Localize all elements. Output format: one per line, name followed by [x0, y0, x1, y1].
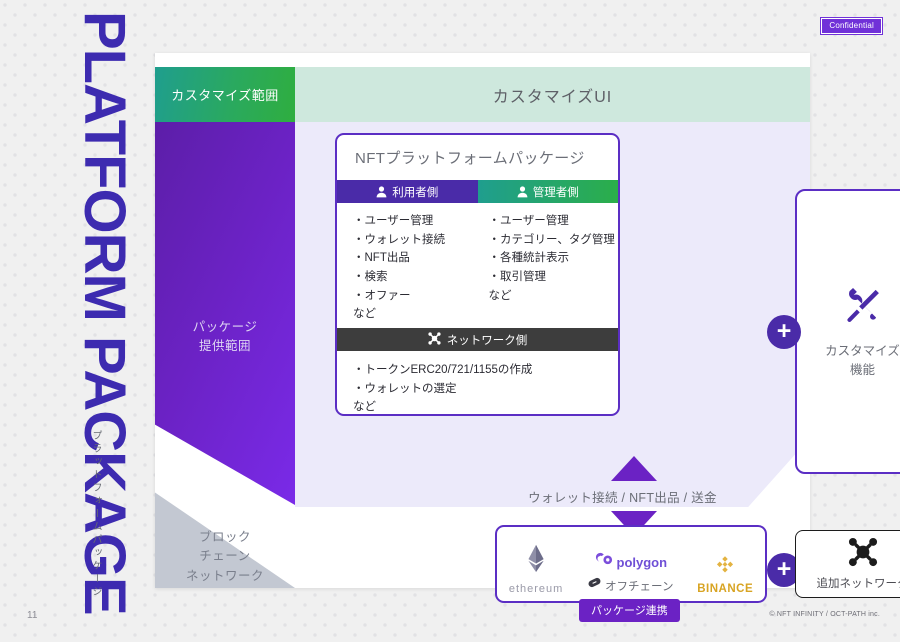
plus-badge-customize: +: [767, 315, 801, 349]
header-tab-customize-ui: カスタマイズUI: [295, 67, 810, 122]
user-icon: [376, 186, 387, 198]
chain-polygon-label: polygon: [617, 555, 668, 570]
network-nodes-icon: [848, 537, 878, 572]
polygon-logo-row: polygon: [587, 550, 673, 572]
customize-caption-line1: カスタマイズ: [825, 342, 900, 361]
add-network-box: 追加ネットワーク: [795, 530, 900, 598]
content-card: カスタマイズ範囲 カスタマイズUI パッケージ 提供範囲 ブロック チェーン ネ…: [155, 53, 810, 588]
network-side-header: ネットワーク側: [337, 328, 618, 351]
chain-polygon: polygon オフチェーン: [587, 550, 673, 595]
polygon-icon: [594, 550, 614, 572]
arrow-up-icon: [611, 456, 657, 481]
vertical-title-group: PLATFORM PACKAGE: [46, 42, 166, 602]
band-blockchain-line2: チェーン: [155, 547, 295, 566]
tab-admin-side-label: 管理者側: [533, 184, 579, 200]
offchain-link-icon: [587, 575, 602, 595]
chain-ethereum-label: ethereum: [509, 583, 563, 595]
band-package-scope-line2: 提供範囲: [193, 337, 258, 356]
slide-root: Confidential PLATFORM PACKAGE プラットフォームパッ…: [0, 0, 900, 642]
network-side-label: ネットワーク側: [447, 332, 528, 348]
band-blockchain-network-label: ブロック チェーン ネットワーク: [155, 528, 295, 586]
package-link-badge: パッケージ連携: [579, 599, 680, 622]
user-feature-list: ・ユーザー管理 ・ウォレット接続 ・NFT出品 ・検索 ・オファー など: [337, 212, 483, 328]
page-number: 11: [27, 610, 37, 621]
admin-feature-list: ・ユーザー管理 ・カテゴリー、タグ管理 ・各種統計表示 ・取引管理 など: [483, 212, 619, 328]
nft-platform-package-box: NFTプラットフォームパッケージ 利用者側 管理者側 ・ユーザー管理 ・ウォレッ…: [335, 133, 620, 416]
offchain-row: オフチェーン: [587, 575, 673, 595]
band-blockchain-line1: ブロック: [155, 528, 295, 547]
chain-binance: BINANCE: [697, 554, 753, 595]
chain-offchain-label: オフチェーン: [605, 578, 673, 594]
ethereum-icon: [525, 563, 547, 580]
tools-icon: [840, 283, 886, 334]
page-subtitle: プラットフォームパッケージ: [88, 430, 103, 599]
customize-function-box: カスタマイズ 機能: [795, 189, 900, 474]
network-nodes-icon: [428, 332, 441, 348]
customize-caption-line2: 機能: [825, 361, 900, 380]
package-role-tabs: 利用者側 管理者側: [337, 180, 618, 203]
tab-user-side-label: 利用者側: [392, 184, 438, 200]
add-network-caption: 追加ネットワーク: [817, 575, 900, 591]
tab-admin-side[interactable]: 管理者側: [478, 180, 619, 203]
blockchain-network-box: ethereum polygon: [495, 525, 767, 603]
package-box-title: NFTプラットフォームパッケージ: [337, 135, 618, 180]
chain-ethereum: ethereum: [509, 544, 563, 595]
confidential-badge: Confidential: [821, 18, 882, 34]
package-feature-columns: ・ユーザー管理 ・ウォレット接続 ・NFT出品 ・検索 ・オファー など ・ユー…: [337, 203, 618, 328]
connector-label: ウォレット接続 / NFT出品 / 送金: [455, 487, 790, 506]
band-package-scope-label: パッケージ 提供範囲: [193, 318, 258, 357]
band-blockchain-line3: ネットワーク: [155, 567, 295, 586]
band-package-scope: パッケージ 提供範囲: [155, 122, 295, 505]
header-tab-customize-scope: カスタマイズ範囲: [155, 67, 295, 122]
page-title: PLATFORM PACKAGE: [75, 11, 133, 511]
band-package-scope-line1: パッケージ: [193, 318, 258, 337]
customize-function-caption: カスタマイズ 機能: [825, 342, 900, 380]
admin-user-icon: [517, 186, 528, 198]
tab-user-side[interactable]: 利用者側: [337, 180, 478, 203]
chain-binance-label: BINANCE: [697, 583, 753, 595]
copyright-notice: © NFT INFINITY / OCT-PATH inc.: [769, 611, 880, 618]
network-feature-list: ・トークンERC20/721/1155の作成 ・ウォレットの選定 など: [337, 351, 618, 416]
binance-icon: [714, 563, 736, 580]
